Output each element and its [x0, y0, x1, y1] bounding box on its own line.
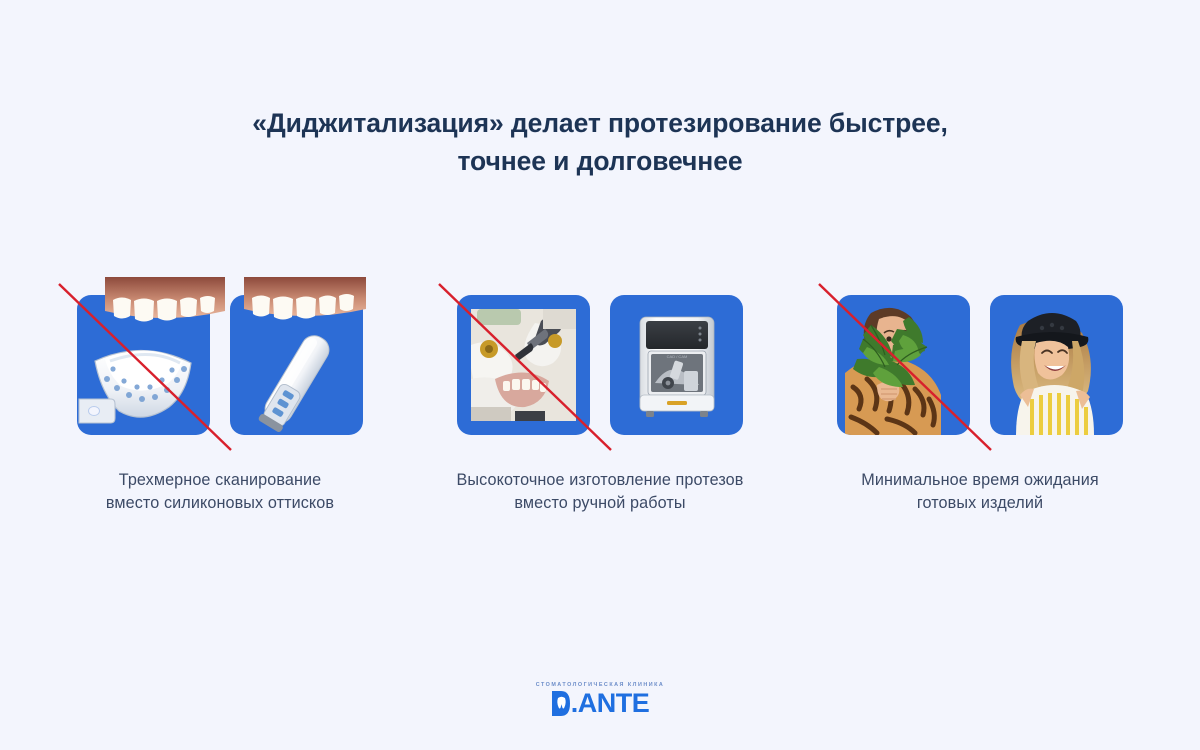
woman-hiding-smile-icon	[837, 295, 970, 435]
card-smiling-woman[interactable]	[990, 295, 1123, 435]
comparison-cards: CAD / CAM	[440, 295, 760, 435]
caption-line-2: готовых изделий	[861, 492, 1098, 515]
manual-lab-work-icon	[457, 295, 590, 435]
slide-root: «Диджитализация» делает протезирование б…	[0, 0, 1200, 750]
feature-groups: Трехмерное сканирование вместо силиконов…	[0, 295, 1200, 535]
intraoral-scanner-icon	[230, 295, 363, 435]
page-title: «Диджитализация» делает протезирование б…	[0, 104, 1200, 181]
card-silicone-impression[interactable]	[77, 295, 210, 435]
logo-name-rest: .ANTE	[571, 690, 650, 717]
card-woman-hiding-smile[interactable]	[837, 295, 970, 435]
feature-group-manufacturing: CAD / CAM Высокоточное изготовление прот…	[420, 295, 780, 535]
caption-line-1: Трехмерное сканирование	[106, 469, 334, 492]
comparison-cards	[820, 295, 1140, 435]
page-title-line-1: «Диджитализация» делает протезирование б…	[0, 104, 1200, 142]
caption-line-2: вместо силиконовых оттисков	[106, 492, 334, 515]
cad-cam-milling-machine-icon: CAD / CAM	[610, 295, 743, 435]
feature-group-waiting-time: Минимальное время ожидания готовых издел…	[800, 295, 1160, 535]
comparison-cards	[60, 295, 380, 435]
feature-caption-waiting-time: Минимальное время ожидания готовых издел…	[861, 469, 1098, 515]
silicone-impression-tray-icon	[77, 295, 210, 435]
feature-group-scanning: Трехмерное сканирование вместо силиконов…	[40, 295, 400, 535]
brand-logo[interactable]: стоматологическая клиника .ANTE	[0, 682, 1200, 722]
caption-line-1: Высокоточное изготовление протезов	[457, 469, 744, 492]
card-milling-machine[interactable]: CAD / CAM	[610, 295, 743, 435]
logo-wordmark: .ANTE	[551, 690, 650, 717]
svg-text:CAD / CAM: CAD / CAM	[667, 354, 688, 359]
caption-line-2: вместо ручной работы	[457, 492, 744, 515]
logo-tooth-d-icon	[551, 690, 571, 717]
feature-caption-manufacturing: Высокоточное изготовление протезов вмест…	[457, 469, 744, 515]
card-manual-lab-work[interactable]	[457, 295, 590, 435]
page-title-line-2: точнее и долговечнее	[0, 142, 1200, 180]
card-intraoral-scanner[interactable]	[230, 295, 363, 435]
feature-caption-scanning: Трехмерное сканирование вместо силиконов…	[106, 469, 334, 515]
smiling-woman-icon	[990, 295, 1123, 435]
caption-line-1: Минимальное время ожидания	[861, 469, 1098, 492]
